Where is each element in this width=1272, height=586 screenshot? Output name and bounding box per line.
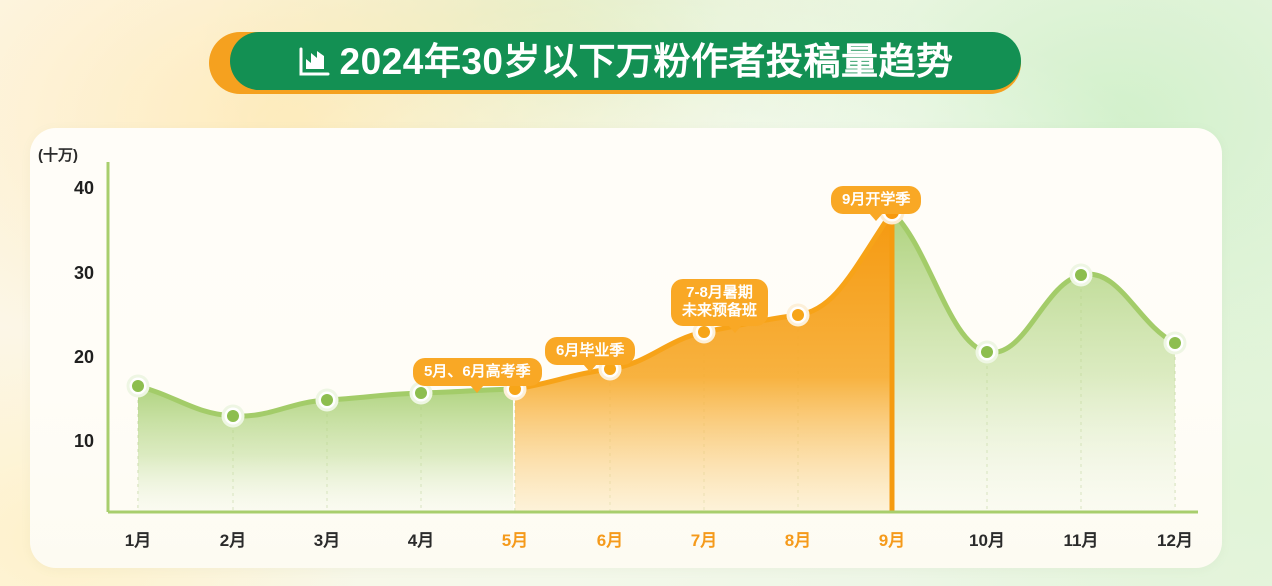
x-tick-1: 1月 [108,526,168,551]
y-tick-30: 30 [48,263,94,284]
x-tick-9: 9月 [862,526,922,551]
x-tick-3: 3月 [297,526,357,551]
page-title: 2024年30岁以下万粉作者投稿量趋势 [340,43,954,80]
x-tick-8: 8月 [768,526,828,551]
x-tick-7: 7月 [674,526,734,551]
y-tick-20: 20 [48,347,94,368]
chart-card: (十万) 40 30 20 10 1月 2月 3月 4月 5月 6月 7月 8月… [30,128,1222,568]
x-tick-2: 2月 [203,526,263,551]
x-tick-5: 5月 [485,526,545,551]
x-tick-4: 4月 [391,526,451,551]
annotation-summer-line1: 7-8月暑期 [682,284,757,302]
y-tick-40: 40 [48,178,94,199]
bar-chart-icon [298,47,330,77]
x-tick-12: 12月 [1145,526,1205,551]
annotation-summer-line2: 未来预备班 [682,302,757,320]
annotation-school-start: 9月开学季 [831,186,921,214]
annotation-graduation: 6月毕业季 [545,337,635,365]
annotation-summer: 7-8月暑期 未来预备班 [671,279,768,326]
y-axis-unit-label: (十万) [38,144,78,165]
annotation-gaokao: 5月、6月高考季 [413,358,542,386]
x-tick-6: 6月 [580,526,640,551]
title-pill: 2024年30岁以下万粉作者投稿量趋势 [230,32,1021,90]
x-tick-10: 10月 [957,526,1017,551]
chart-title-banner: 2024年30岁以下万粉作者投稿量趋势 [209,32,1021,94]
x-tick-11: 11月 [1051,526,1111,551]
y-tick-10: 10 [48,431,94,452]
